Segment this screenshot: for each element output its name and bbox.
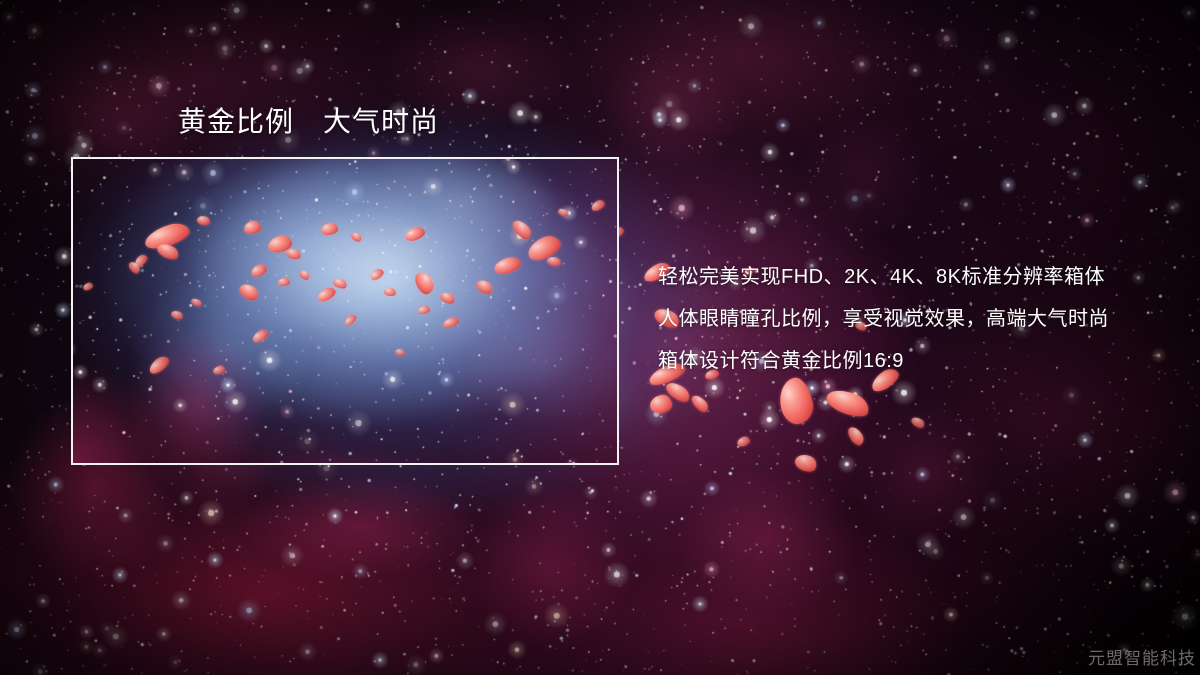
framed-photo-image [73,159,617,463]
watermark: 元盟智能科技 [1088,644,1196,669]
presentation-slide: 黄金比例 大气时尚 轻松完美实现FHD、2K、4K、8K标准分辨率箱体 人体眼睛… [0,0,1200,675]
framed-photo [71,157,619,465]
body-text-block: 轻松完美实现FHD、2K、4K、8K标准分辨率箱体 人体眼睛瞳孔比例，享受视觉效… [658,256,1178,382]
body-text-line-1: 轻松完美实现FHD、2K、4K、8K标准分辨率箱体 [658,256,1178,298]
body-text-line-2: 人体眼睛瞳孔比例，享受视觉效果，高端大气时尚 [658,298,1178,340]
body-text-line-3: 箱体设计符合黄金比例16:9 [658,340,1178,382]
framed-photo-content [73,159,617,463]
page-title: 黄金比例 大气时尚 [178,100,439,140]
